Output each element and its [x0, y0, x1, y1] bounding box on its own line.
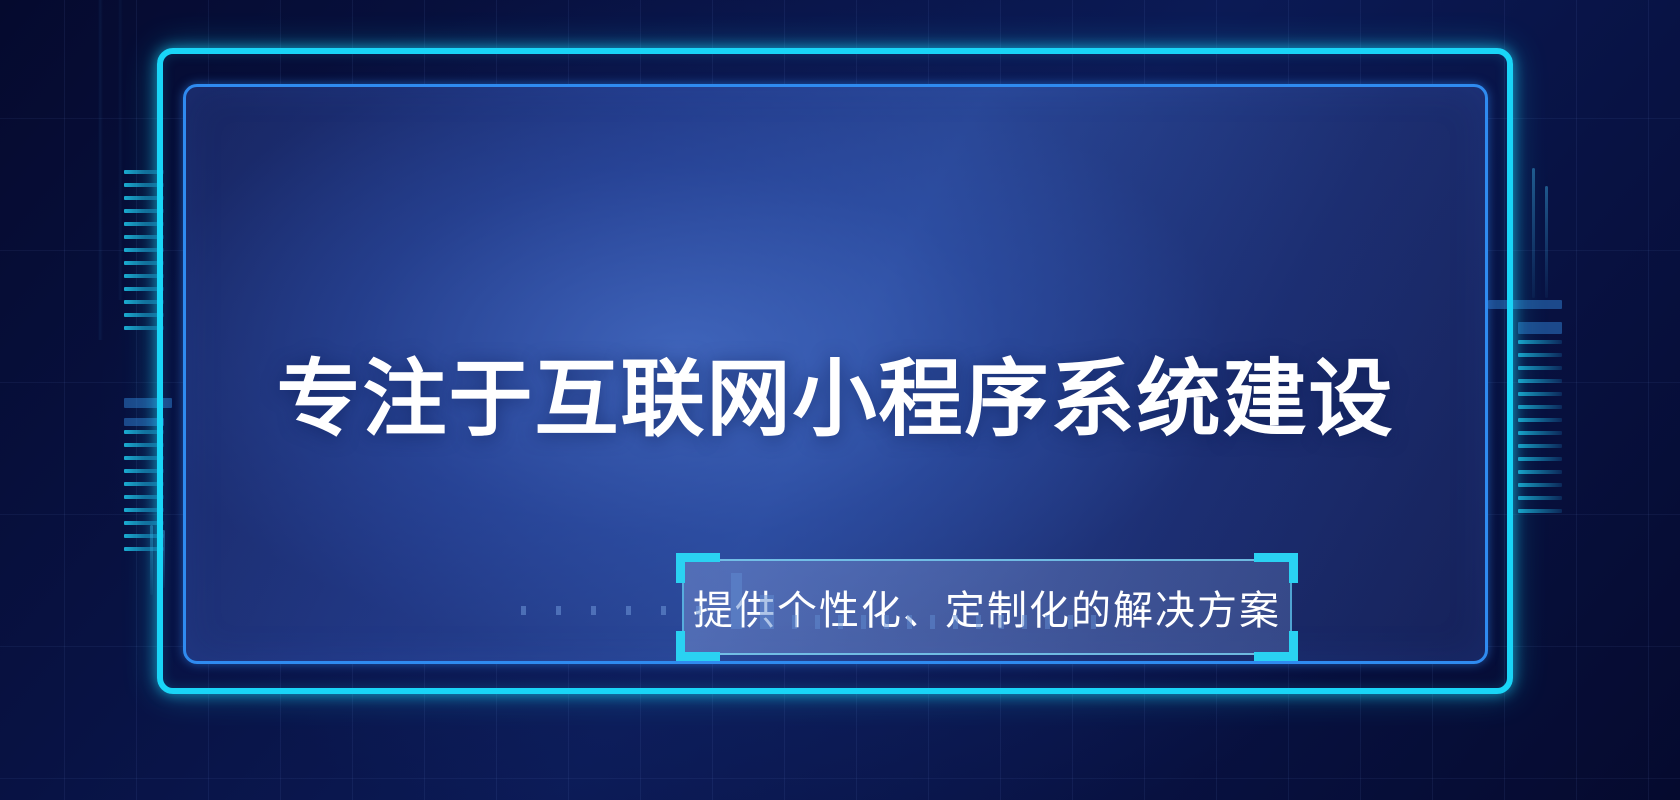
decor-tick — [1518, 418, 1562, 422]
decor-mini-bar — [792, 615, 797, 629]
decor-mini-bar — [1022, 615, 1027, 629]
decor-tick — [1518, 353, 1562, 357]
decor-dot — [661, 606, 666, 615]
decor-mini-bar — [815, 615, 820, 629]
decor-tick — [1518, 431, 1562, 435]
decor-mini-bar — [999, 615, 1004, 629]
decor-block-bar — [1518, 322, 1562, 334]
decor-tick — [1518, 379, 1562, 383]
decor-mini-bar — [731, 573, 742, 629]
decor-mini-bar — [976, 615, 981, 629]
decor-mini-bar — [760, 595, 774, 629]
decor-vertical-line — [1545, 186, 1548, 298]
decor-tick — [1518, 405, 1562, 409]
decor-mini-bar — [930, 615, 935, 629]
decor-mini-bar — [884, 615, 889, 629]
decor-mini-bar — [907, 615, 912, 629]
decor-tick — [1518, 340, 1562, 344]
decor-mini-bar — [1045, 615, 1050, 629]
decor-tick — [1518, 457, 1562, 461]
decor-dot — [591, 606, 596, 615]
decor-mini-bar — [1068, 615, 1073, 629]
decor-tick-stack-right — [1518, 340, 1562, 513]
hero-banner: 专注于互联网小程序系统建设 提供个性化、定制化的解决方案 — [0, 0, 1680, 800]
decor-tick — [1518, 366, 1562, 370]
decor-tick — [1518, 509, 1562, 513]
decor-mini-bar — [838, 615, 843, 629]
decor-dot-row — [521, 606, 701, 615]
decor-tick — [1518, 392, 1562, 396]
decor-vertical-line — [150, 525, 153, 595]
decor-tick — [1518, 444, 1562, 448]
decor-tick — [1518, 496, 1562, 500]
content-panel: 专注于互联网小程序系统建设 提供个性化、定制化的解决方案 — [183, 84, 1488, 664]
decor-dot — [521, 606, 526, 615]
decor-mini-bar — [953, 615, 958, 629]
decor-dot — [696, 606, 701, 615]
decor-mini-bar — [1091, 615, 1096, 629]
decor-mini-bar — [861, 615, 866, 629]
decor-vertical-line — [1532, 168, 1535, 298]
page-title: 专注于互联网小程序系统建设 — [186, 355, 1485, 443]
decor-mini-bar-chart — [731, 565, 1096, 629]
decor-tick — [1518, 483, 1562, 487]
decor-dot — [556, 606, 561, 615]
decor-tick — [1518, 470, 1562, 474]
decor-dot — [626, 606, 631, 615]
